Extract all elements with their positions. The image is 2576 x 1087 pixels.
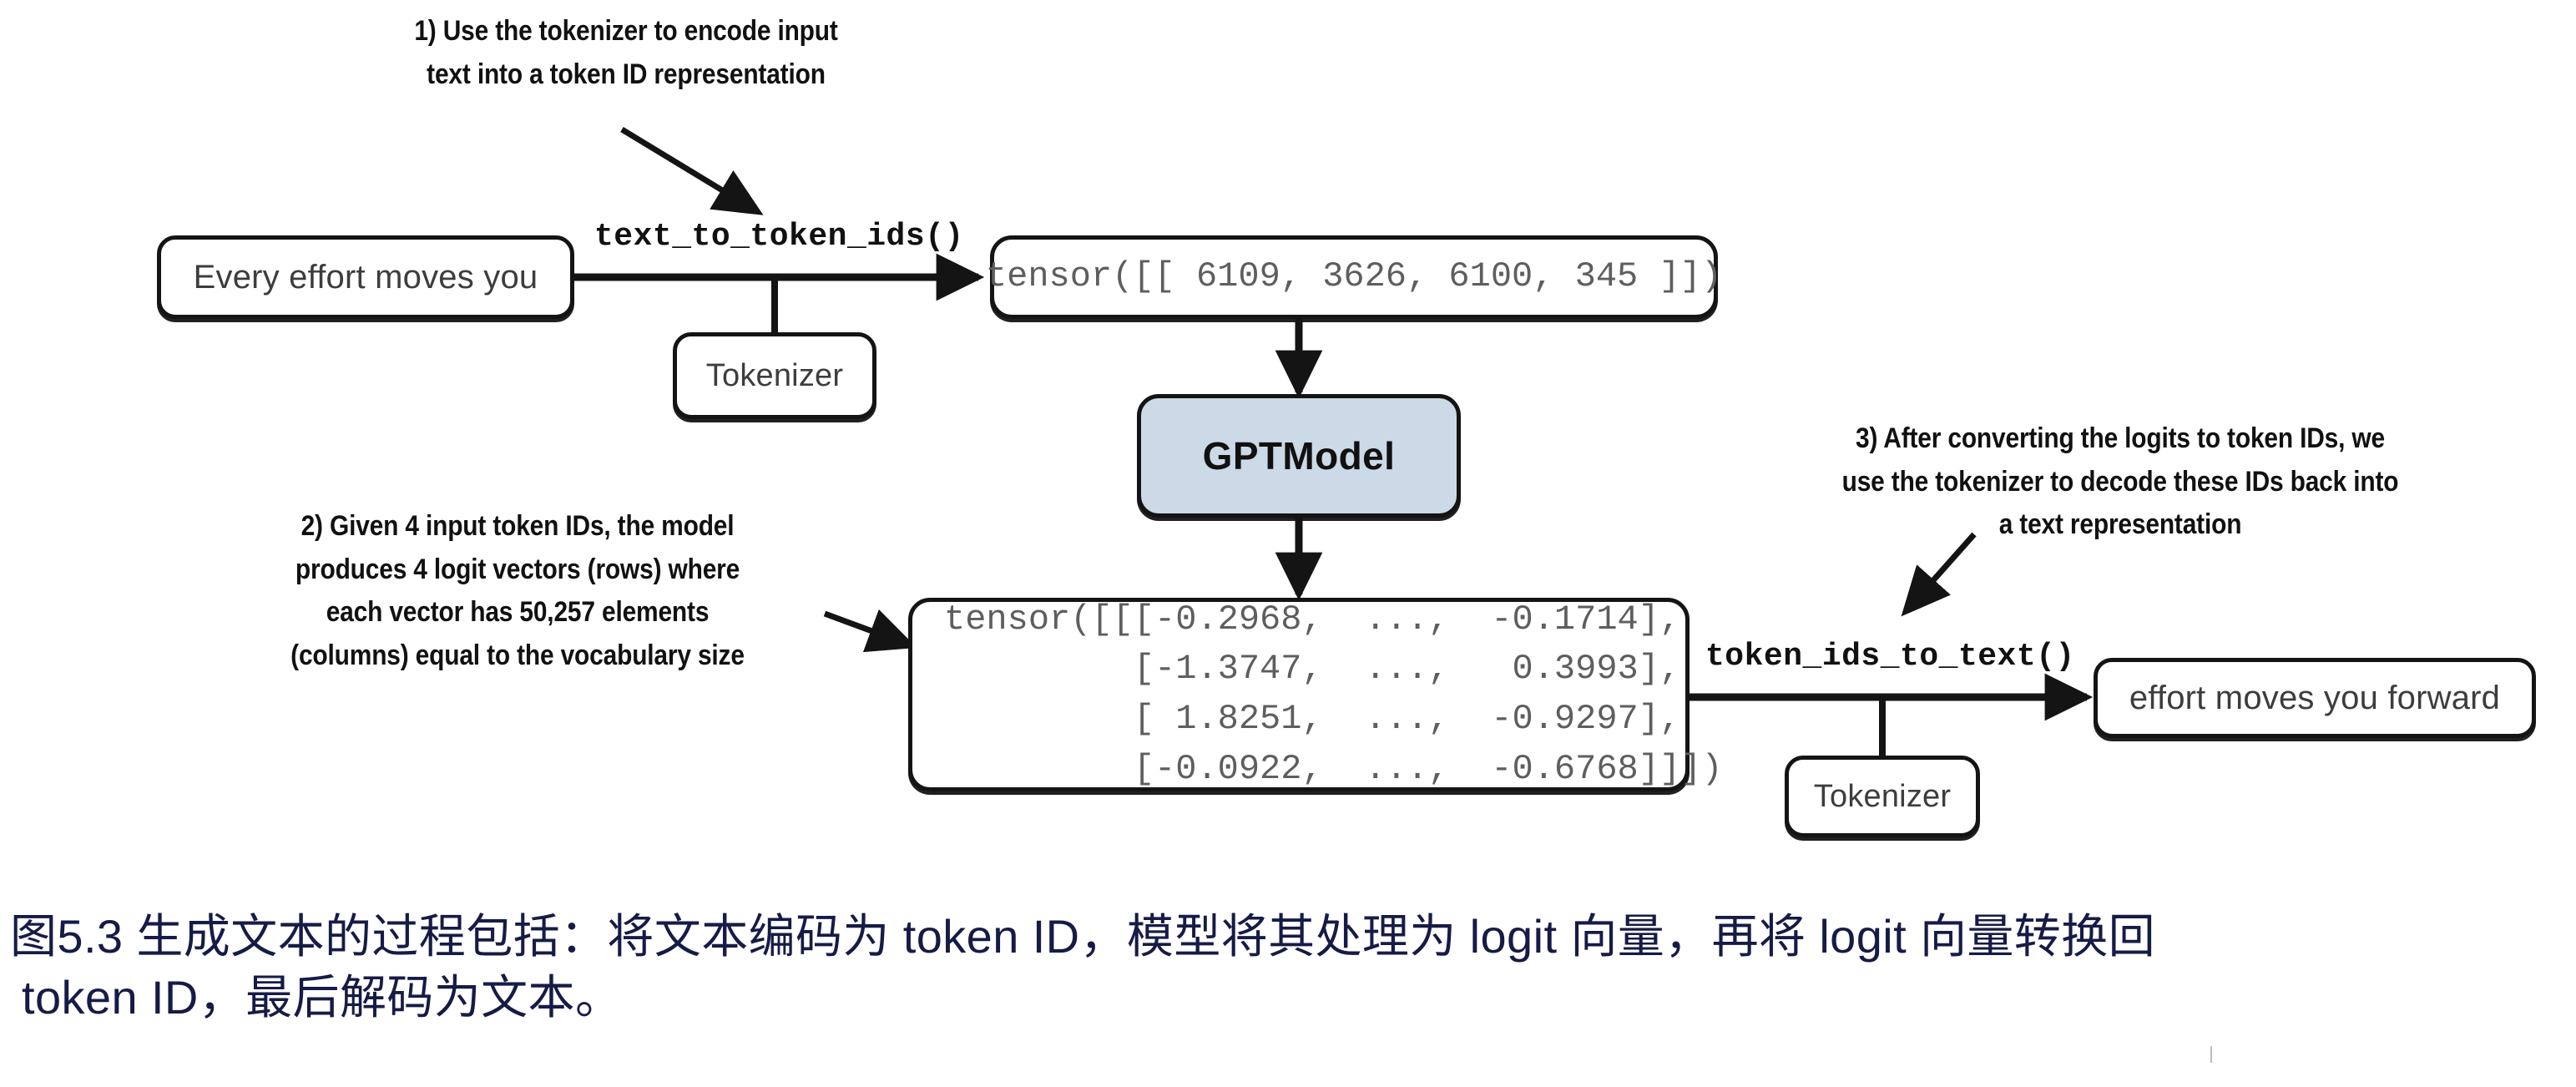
figure-caption-line-2: token ID，最后解码为文本。: [10, 968, 2566, 1029]
diagram-canvas: 1) Use the tokenizer to encode input tex…: [0, 0, 2576, 893]
edge-label-token-ids-to-text: token_ids_to_text(): [1705, 639, 2075, 675]
annotation-step-1-line-2: text into a token ID representation: [398, 53, 854, 97]
figure-caption-line-1: 图5.3 生成文本的过程包括：将文本编码为 token ID，模型将其处理为 l…: [10, 907, 2566, 968]
annotation-step-2-line-3: each vector has 50,257 elements: [268, 591, 767, 635]
edge-label-text-to-token-ids: text_to_token_ids(): [594, 219, 964, 255]
annotation-step-3-line-3: a text representation: [1808, 503, 2432, 547]
figure-caption: 图5.3 生成文本的过程包括：将文本编码为 token ID，模型将其处理为 l…: [10, 907, 2566, 1029]
annotation-step-2: 2) Given 4 input token IDs, the model pr…: [268, 505, 767, 678]
figure-page: 1) Use the tokenizer to encode input tex…: [0, 0, 2576, 1087]
annotation-step-1: 1) Use the tokenizer to encode input tex…: [398, 10, 854, 96]
node-input-text[interactable]: Every effort moves you: [157, 235, 574, 319]
annotation-step-3-line-2: use the tokenizer to decode these IDs ba…: [1808, 461, 2432, 504]
node-token-ids-tensor-label: tensor([[ 6109, 3626, 6100, 345 ]]): [986, 252, 1722, 302]
node-logits-tensor-label: tensor([[[-0.2968, ..., -0.1714], [-1.37…: [944, 595, 1723, 795]
node-tokenizer-right[interactable]: Tokenizer: [1785, 756, 1980, 837]
node-gpt-model[interactable]: GPTModel: [1137, 394, 1461, 518]
page-hairline-mark: [2210, 1046, 2212, 1063]
edge-token-ids-to-text: [1688, 697, 2087, 756]
node-tokenizer-left-label: Tokenizer: [706, 358, 843, 394]
annotation-step-3-line-1: 3) After converting the logits to token …: [1808, 417, 2432, 461]
node-input-text-label: Every effort moves you: [194, 259, 538, 296]
annotation-step-3: 3) After converting the logits to token …: [1808, 417, 2432, 547]
node-output-text-label: effort moves you forward: [2129, 680, 2500, 717]
node-output-text[interactable]: effort moves you forward: [2094, 658, 2536, 738]
node-tokenizer-right-label: Tokenizer: [1814, 779, 1951, 815]
annotation-step-2-line-1: 2) Given 4 input token IDs, the model: [268, 505, 767, 549]
node-tokenizer-left[interactable]: Tokenizer: [673, 332, 876, 419]
annotation-step-2-line-2: produces 4 logit vectors (rows) where: [268, 549, 767, 592]
annotation-step-1-line-1: 1) Use the tokenizer to encode input: [398, 10, 854, 53]
step2-pointer-arrow: [825, 614, 908, 645]
node-token-ids-tensor[interactable]: tensor([[ 6109, 3626, 6100, 345 ]]): [990, 235, 1718, 319]
step1-pointer-arrow: [622, 129, 755, 210]
annotation-step-2-line-4: (columns) equal to the vocabulary size: [268, 635, 767, 678]
node-gpt-model-label: GPTModel: [1203, 433, 1396, 478]
node-logits-tensor[interactable]: tensor([[[-0.2968, ..., -0.1714], [-1.37…: [908, 598, 1690, 791]
